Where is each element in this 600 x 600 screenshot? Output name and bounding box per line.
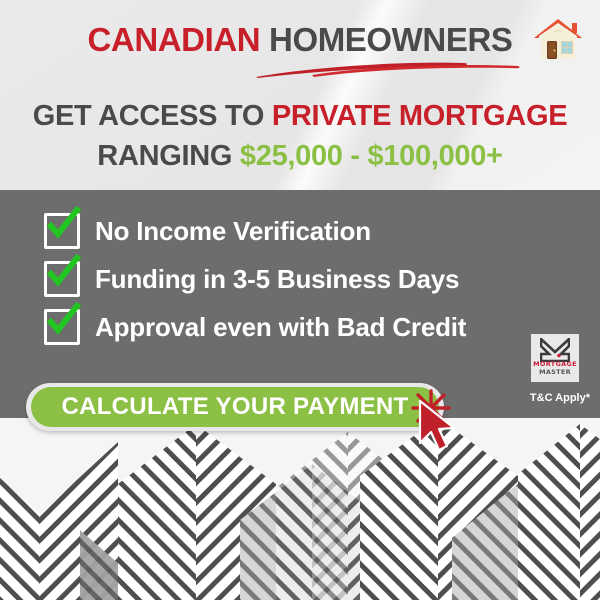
mouse-cursor-icon — [414, 399, 462, 455]
subheadline-line-2: RANGING $25,000 - $100,000+ — [0, 136, 600, 176]
calculate-your-payment-button[interactable]: CALCULATE YOUR PAYMENT — [31, 387, 439, 427]
page-title: CANADIAN HOMEOWNERS — [0, 20, 600, 60]
header: CANADIAN HOMEOWNERS — [0, 0, 600, 92]
subheadline-get-access: GET ACCESS TO — [33, 100, 272, 132]
subheadline-ranging: RANGING — [97, 140, 240, 172]
checkbox-icon — [44, 309, 80, 345]
logo-text-line1: MORTGAGE — [531, 360, 579, 368]
checkbox-icon — [44, 261, 80, 297]
benefits-list: No Income Verification Funding in 3-5 Bu… — [44, 208, 466, 352]
building-line-art — [0, 418, 600, 600]
brand-logo: MORTGAGE MASTER — [531, 334, 579, 382]
benefit-label: Funding in 3-5 Business Days — [95, 264, 459, 295]
logo-text-line2: MASTER — [531, 368, 579, 376]
title-canadian: CANADIAN — [87, 21, 269, 58]
red-brush-underline-icon — [252, 58, 522, 80]
cta-button-frame[interactable]: CALCULATE YOUR PAYMENT — [26, 383, 444, 431]
house-icon — [532, 14, 584, 66]
list-item: Approval even with Bad Credit — [44, 304, 466, 350]
disclaimer-text: T&C Apply* — [498, 392, 590, 404]
benefit-label: Approval even with Bad Credit — [95, 312, 466, 343]
subheadline-line-1: GET ACCESS TO PRIVATE MORTGAGE — [0, 96, 600, 136]
subheadline: GET ACCESS TO PRIVATE MORTGAGE RANGING $… — [0, 96, 600, 176]
subheadline-amount-range: $25,000 - $100,000+ — [240, 140, 503, 172]
checkbox-icon — [44, 213, 80, 249]
subheadline-private-mortgage: PRIVATE MORTGAGE — [272, 100, 567, 132]
list-item: No Income Verification — [44, 208, 466, 254]
benefit-label: No Income Verification — [95, 216, 371, 247]
list-item: Funding in 3-5 Business Days — [44, 256, 466, 302]
advertisement-banner: CANADIAN HOMEOWNERS — [0, 0, 600, 600]
title-homeowners: HOMEOWNERS — [269, 21, 513, 58]
